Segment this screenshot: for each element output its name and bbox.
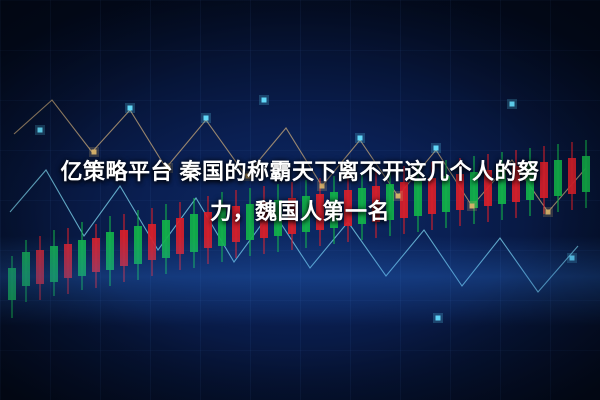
title-line-2: 力，魏国人第一名 (16, 192, 584, 232)
article-title-overlay: 亿策略平台 秦国的称霸天下离不开这几个人的努 力，魏国人第一名 (0, 152, 600, 232)
title-line-1: 亿策略平台 秦国的称霸天下离不开这几个人的努 (16, 152, 584, 192)
stock-chart-banner: 亿策略平台 秦国的称霸天下离不开这几个人的努 力，魏国人第一名 (0, 0, 600, 400)
